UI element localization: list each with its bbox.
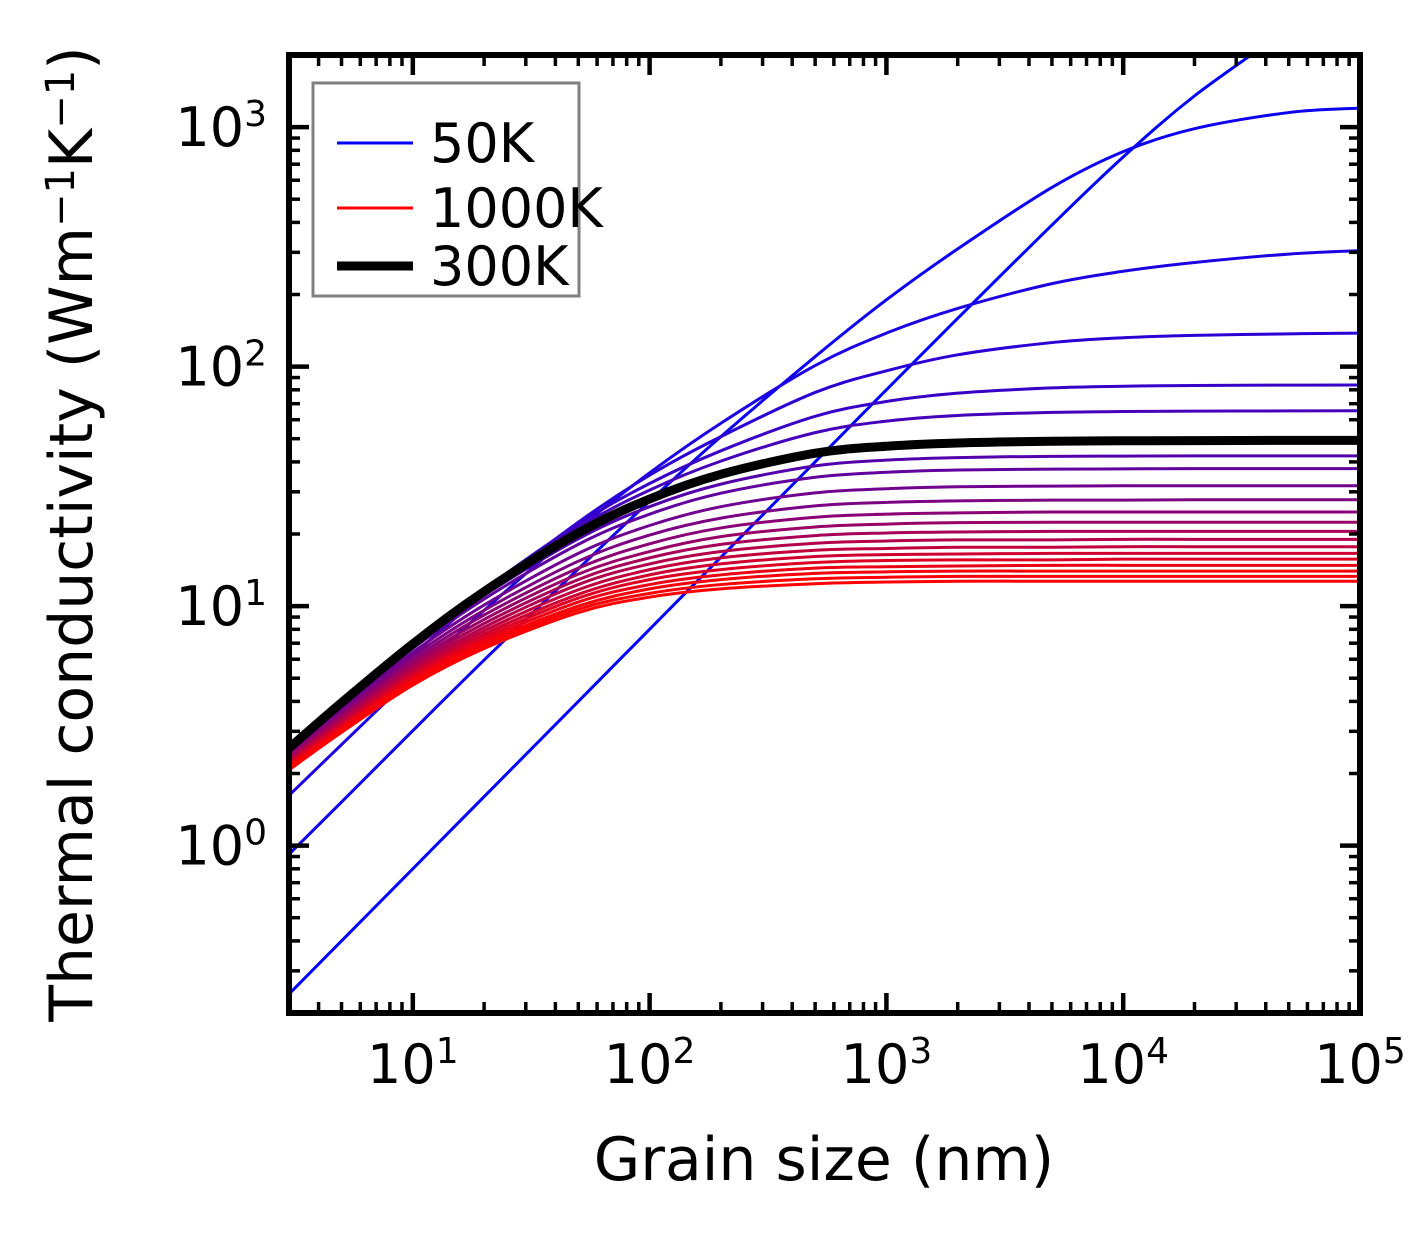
legend-label-1000K: 1000K [430, 177, 604, 240]
y-axis-title-sup1: −1 [38, 168, 84, 227]
y-axis-title-sup2: −1 [38, 70, 84, 129]
y-axis-title-prefix: Thermal conductivity (Wm [37, 227, 107, 1023]
x-axis-title: Grain size (nm) [594, 1125, 1054, 1195]
figure-container: 101102103104105 100101102103 Grain size … [0, 0, 1421, 1254]
legend-label-300K: 300K [430, 235, 570, 298]
y-axis-title-mid: K [37, 127, 107, 168]
thermal-conductivity-plot: 101102103104105 100101102103 Grain size … [0, 0, 1421, 1254]
legend-label-50K: 50K [430, 112, 536, 175]
legend[interactable]: 50K1000K300K [313, 83, 604, 298]
y-axis-title-suffix: ) [37, 46, 107, 69]
